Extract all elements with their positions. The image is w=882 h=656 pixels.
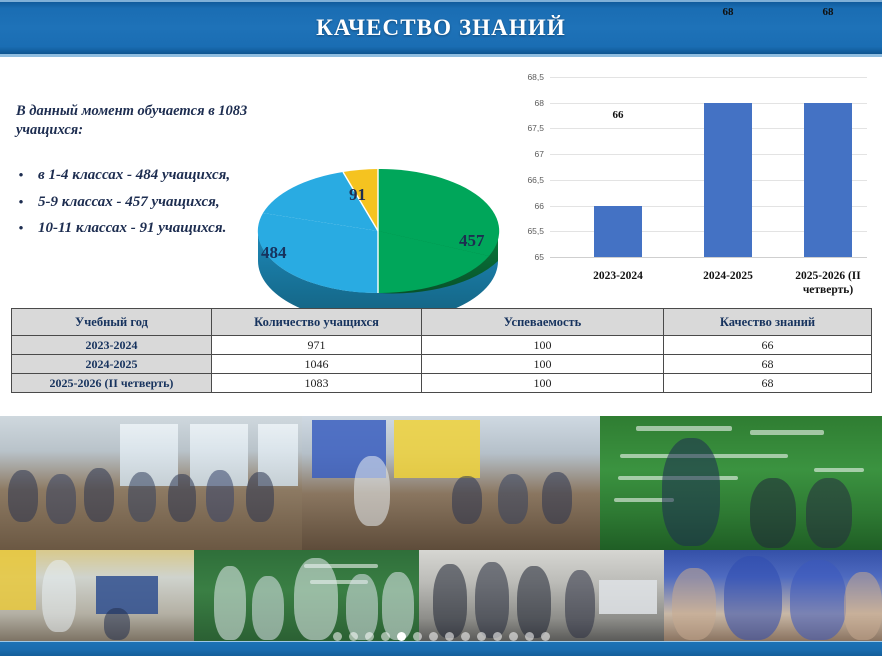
cell-year: 2024-2025 <box>12 355 212 374</box>
carousel-dot[interactable] <box>477 632 486 641</box>
pie-chart: 457 484 91 <box>247 121 512 331</box>
table-row: 2025-2026 (II четверть) 1083 100 68 <box>12 374 872 393</box>
cell-performance: 100 <box>422 336 664 355</box>
column-header-year: Учебный год <box>12 309 212 336</box>
carousel-dot[interactable] <box>349 632 358 641</box>
x-axis-label: 2025-2026 (II четверть) <box>773 269 882 298</box>
x-axis-label: 2024-2025 <box>668 269 788 283</box>
statistics-table: Учебный год Количество учащихся Успеваем… <box>11 308 872 393</box>
cell-performance: 100 <box>422 355 664 374</box>
table-row: 2024-2025 1046 100 68 <box>12 355 872 374</box>
list-item: • 5-9 классах - 457 учащихся, <box>14 194 266 212</box>
bullet-text: 5-9 классах - 457 учащихся, <box>28 194 220 211</box>
bullet-text: в 1-4 классах - 484 учащихся, <box>28 167 230 184</box>
cell-quality: 68 <box>664 355 872 374</box>
photo-gallery <box>0 416 882 641</box>
list-item: • 10-11 классах - 91 учащихся. <box>14 220 266 238</box>
y-axis-tick: 66 <box>535 201 544 211</box>
bullet-marker-icon: • <box>14 220 28 238</box>
y-axis-tick: 68,5 <box>527 72 544 82</box>
bullet-marker-icon: • <box>14 167 28 185</box>
pie-data-label-yellow: 91 <box>349 185 366 205</box>
slide-page: КАЧЕСТВО ЗНАНИЙ В данный момент обучаетс… <box>0 0 882 656</box>
cell-year: 2025-2026 (II четверть) <box>12 374 212 393</box>
page-title: КАЧЕСТВО ЗНАНИЙ <box>316 15 566 41</box>
photo-classroom-students-windows[interactable] <box>0 416 302 550</box>
photo-classroom-blue-yellow-wall[interactable] <box>302 416 600 550</box>
photo-computer-lab-students[interactable] <box>419 550 664 641</box>
bar-chart-plot: 68,5 68 67,5 67 66,5 66 65,5 65 66 68 68… <box>550 77 867 257</box>
cell-count: 1046 <box>212 355 422 374</box>
carousel-dot[interactable] <box>333 632 342 641</box>
cell-year: 2023-2024 <box>12 336 212 355</box>
bullet-text: 10-11 классах - 91 учащихся. <box>28 220 226 237</box>
carousel-dot[interactable] <box>461 632 470 641</box>
carousel-dot[interactable] <box>493 632 502 641</box>
photo-row-bottom <box>0 550 882 641</box>
y-axis-tick: 65 <box>535 252 544 262</box>
carousel-dots <box>0 630 882 642</box>
photo-teacher-and-pupils-at-board[interactable] <box>194 550 419 641</box>
y-axis-tick: 66,5 <box>527 175 544 185</box>
photo-teacher-at-green-chalkboard[interactable] <box>600 416 882 550</box>
y-axis-tick: 65,5 <box>527 226 544 236</box>
column-header-quality: Качество знаний <box>664 309 872 336</box>
page-header: КАЧЕСТВО ЗНАНИЙ <box>0 0 882 57</box>
bar-chart: 68,5 68 67,5 67 66,5 66 65,5 65 66 68 68… <box>505 69 875 304</box>
carousel-dot-active[interactable] <box>397 632 406 641</box>
carousel-dot[interactable] <box>445 632 454 641</box>
carousel-dot[interactable] <box>365 632 374 641</box>
y-axis-tick: 67 <box>535 149 544 159</box>
carousel-dot[interactable] <box>413 632 422 641</box>
cell-count: 1083 <box>212 374 422 393</box>
carousel-dot[interactable] <box>429 632 438 641</box>
list-item: • в 1-4 классах - 484 учащихся, <box>14 167 266 185</box>
pie-data-label-green: 457 <box>459 231 485 251</box>
cell-count: 971 <box>212 336 422 355</box>
column-header-count: Количество учащихся <box>212 309 422 336</box>
carousel-dot[interactable] <box>541 632 550 641</box>
pie-data-label-blue: 484 <box>261 243 287 263</box>
carousel-dot[interactable] <box>525 632 534 641</box>
bar-value-label: 66 <box>613 109 624 121</box>
statistics-table-container: Учебный год Количество учащихся Успеваем… <box>0 308 882 406</box>
bar-2025-2026[interactable] <box>804 103 852 257</box>
pie-chart-svg <box>247 121 512 321</box>
y-axis-tick: 67,5 <box>527 123 544 133</box>
intro-text: В данный момент обучается в 1083 учащихс… <box>16 102 266 140</box>
page-footer <box>0 641 882 656</box>
photo-students-with-blue-scarves[interactable] <box>664 550 882 641</box>
table-row: 2023-2024 971 100 66 <box>12 336 872 355</box>
cell-quality: 68 <box>664 374 872 393</box>
bullet-list: • в 1-4 классах - 484 учащихся, • 5-9 кл… <box>14 167 266 247</box>
bar-2023-2024[interactable] <box>594 206 642 257</box>
carousel-dot[interactable] <box>509 632 518 641</box>
carousel-dot[interactable] <box>381 632 390 641</box>
x-axis-label: 2023-2024 <box>558 269 678 283</box>
cell-quality: 66 <box>664 336 872 355</box>
bullet-marker-icon: • <box>14 194 28 212</box>
bar-2024-2025[interactable] <box>704 103 752 257</box>
cell-performance: 100 <box>422 374 664 393</box>
table-header-row: Учебный год Количество учащихся Успеваем… <box>12 309 872 336</box>
bar-value-label: 68 <box>823 6 834 18</box>
photo-teacher-with-tv-screen[interactable] <box>0 550 194 641</box>
photo-row-top <box>0 416 882 550</box>
y-axis-tick: 68 <box>535 98 544 108</box>
bar-value-label: 68 <box>723 6 734 18</box>
column-header-performance: Успеваемость <box>422 309 664 336</box>
